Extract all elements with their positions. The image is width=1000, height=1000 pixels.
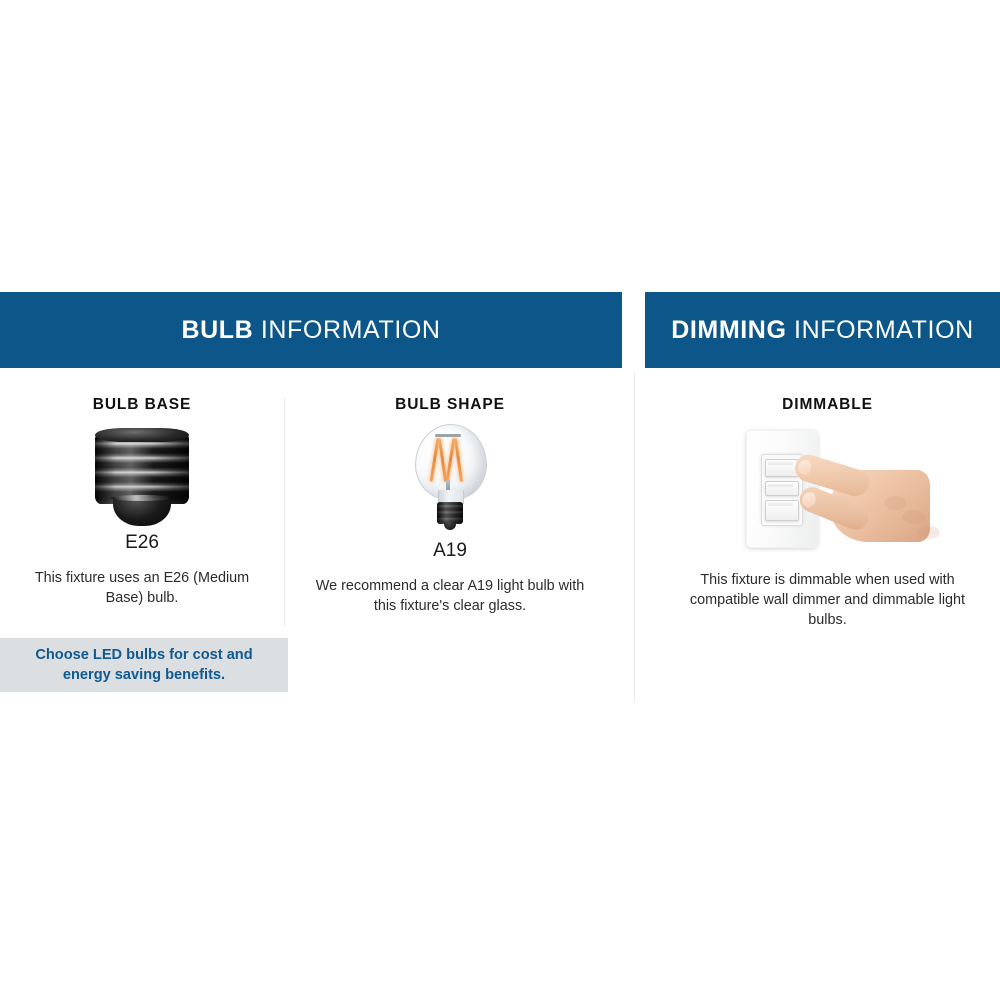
base-collar — [95, 428, 189, 442]
dimmable-column: DIMMABLE — [655, 396, 1000, 630]
bulb-screw-base — [437, 502, 463, 524]
led-callout-text: Choose LED bulbs for cost and energy sav… — [19, 645, 269, 685]
bulb-information-title-strong: BULB — [181, 316, 253, 344]
filament-cap — [435, 434, 461, 437]
bulb-base-heading: BULB BASE — [0, 396, 284, 414]
bulb-information-title: BULB INFORMATION — [181, 316, 440, 345]
panel-divider — [634, 372, 635, 702]
bulb-information-header: BULB INFORMATION — [0, 292, 622, 368]
column-divider — [284, 398, 285, 626]
bulb-base-description: This fixture uses an E26 (Medium Base) b… — [32, 568, 252, 608]
led-callout-box: Choose LED bulbs for cost and energy sav… — [0, 638, 288, 692]
bulb-shape-value: A19 — [300, 540, 600, 562]
bulb-shape-heading: BULB SHAPE — [300, 396, 600, 414]
base-tip — [113, 498, 171, 526]
knuckle — [902, 510, 926, 524]
fingernail — [800, 490, 818, 509]
dimming-information-title: DIMMING INFORMATION — [671, 316, 974, 345]
wall-dimmer-switch-icon — [728, 428, 928, 556]
bulb-shape-column: BULB SHAPE A19 We recommend a clear A19 … — [300, 396, 600, 616]
e26-screw-base-icon — [87, 428, 197, 526]
bulb-shape-description: We recommend a clear A19 light bulb with… — [310, 576, 590, 616]
a19-clear-bulb-icon — [411, 424, 489, 534]
dimming-information-title-strong: DIMMING — [671, 316, 786, 344]
dimmable-heading: DIMMABLE — [655, 396, 1000, 414]
bulb-information-title-rest: INFORMATION — [261, 316, 441, 344]
screw-threads — [95, 432, 189, 504]
dimming-information-title-space — [787, 316, 795, 344]
bulb-base-value: E26 — [0, 532, 284, 554]
knuckle — [918, 526, 940, 539]
bulb-information-title-light — [253, 316, 261, 344]
dimming-information-header: DIMMING INFORMATION — [645, 292, 1000, 368]
bulb-base-tip — [444, 522, 456, 530]
dimming-information-title-rest: INFORMATION — [794, 316, 974, 344]
dimmable-description: This fixture is dimmable when used with … — [678, 570, 978, 630]
fingernail — [796, 458, 813, 476]
knuckle — [884, 496, 906, 510]
product-info-graphic: BULB INFORMATION DIMMING INFORMATION BUL… — [0, 0, 1000, 1000]
bulb-base-column: BULB BASE E26 This fixture uses an E26 (… — [0, 396, 284, 608]
hand-icon — [794, 456, 928, 556]
